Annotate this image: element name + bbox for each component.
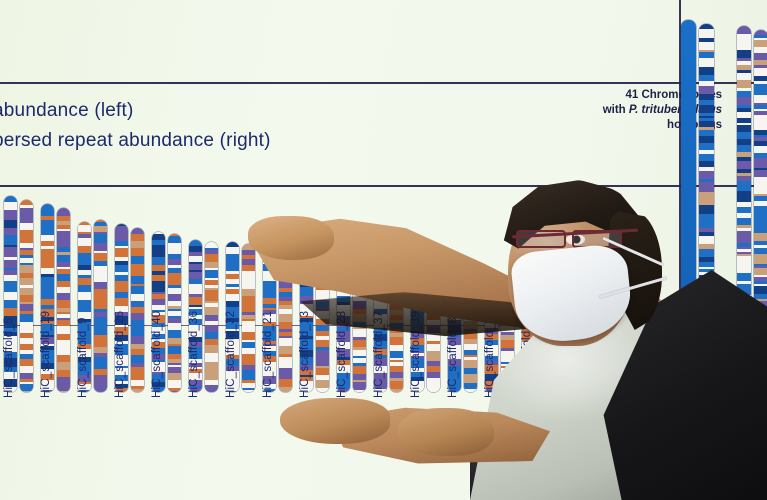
repeat-abundance-bar (464, 270, 477, 392)
repeat-abundance-bar (538, 282, 551, 392)
x-axis-label: HiC_scaffold_34 (521, 311, 533, 398)
x-axis-label: HiC_scaffold_24 (484, 311, 496, 398)
repeat-abundance-bar (699, 24, 714, 392)
x-axis-label: HiC_scaffold_32 (225, 311, 237, 398)
repeat-abundance-bar (575, 288, 588, 392)
x-axis-label: HiC_scaffold_49 (682, 311, 694, 398)
repeat-abundance-bar (279, 248, 292, 392)
projected-slide: ne abundance (left) erspersed repeat abu… (0, 0, 767, 500)
repeat-abundance-bar (205, 242, 218, 392)
x-axis-label: HiC_scaffold_46 (632, 311, 644, 398)
x-axis-label: HiC_scaffold_36 (188, 311, 200, 398)
x-axis-label: HiC_scaffold_26 (114, 311, 126, 398)
x-axis-label: HiC_scaffold_37 (373, 311, 385, 398)
x-axis-label: HiC_scaffold_2 (595, 317, 607, 398)
x-axis-label: HiC_scaffold_39 (410, 311, 422, 398)
repeat-abundance-bar (94, 220, 107, 392)
x-axis-label: HiC_scaffold_19 (40, 311, 52, 398)
screenshot-root: ne abundance (left) erspersed repeat abu… (0, 0, 767, 500)
repeat-abundance-bar (20, 200, 33, 392)
repeat-abundance-bar (353, 256, 366, 392)
repeat-abundance-bar (242, 244, 255, 392)
x-axis-label: HiC_scaffold_40 (151, 311, 163, 398)
repeat-abundance-bar (57, 208, 70, 392)
repeat-abundance-bar (131, 228, 144, 392)
repeat-abundance-bar (427, 266, 440, 392)
x-axis-label: HiC_scaffold_50 (737, 311, 749, 398)
repeat-abundance-bar (612, 294, 625, 392)
repeat-abundance-bar (390, 262, 403, 392)
x-axis-label: HiC_scaffold_21 (262, 311, 274, 398)
ideogram-bar-group: HiC_scaffold_5HiC_scaffold_19HiC_scaffol… (0, 0, 767, 500)
x-axis-label: HiC_scaffold_13 (299, 311, 311, 398)
repeat-abundance-bar (168, 234, 181, 392)
x-axis-label: HiC_scaffold_8 (447, 317, 459, 398)
x-axis-label: HiC_scaffold_9 (77, 317, 89, 398)
repeat-abundance-bar (754, 30, 767, 392)
x-axis-label: HiC_scaffold_42 (558, 311, 570, 398)
x-axis-label: HiC_scaffold_5 (3, 317, 15, 398)
repeat-abundance-bar (501, 276, 514, 392)
x-axis-label: HiC_scaffold_28 (336, 311, 348, 398)
repeat-abundance-bar (316, 252, 329, 392)
repeat-abundance-bar (649, 298, 662, 392)
